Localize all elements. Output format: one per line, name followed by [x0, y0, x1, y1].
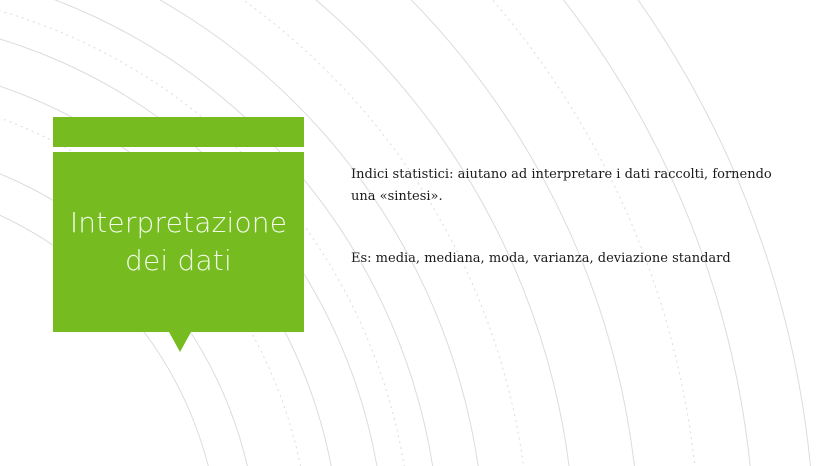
body-paragraph-1: Indici statistici: aiutano ad interpreta…: [351, 164, 781, 208]
callout-pointer-triangle: [169, 332, 191, 352]
callout-top-bar: [53, 117, 304, 147]
callout-title: Interpretazione dei dati: [53, 152, 304, 332]
body-text-block: Indici statistici: aiutano ad interpreta…: [351, 164, 781, 270]
paragraph-spacer: [351, 208, 781, 248]
body-paragraph-2: Es: media, mediana, moda, varianza, devi…: [351, 248, 781, 270]
slide-canvas: Interpretazione dei dati Indici statisti…: [0, 0, 828, 466]
